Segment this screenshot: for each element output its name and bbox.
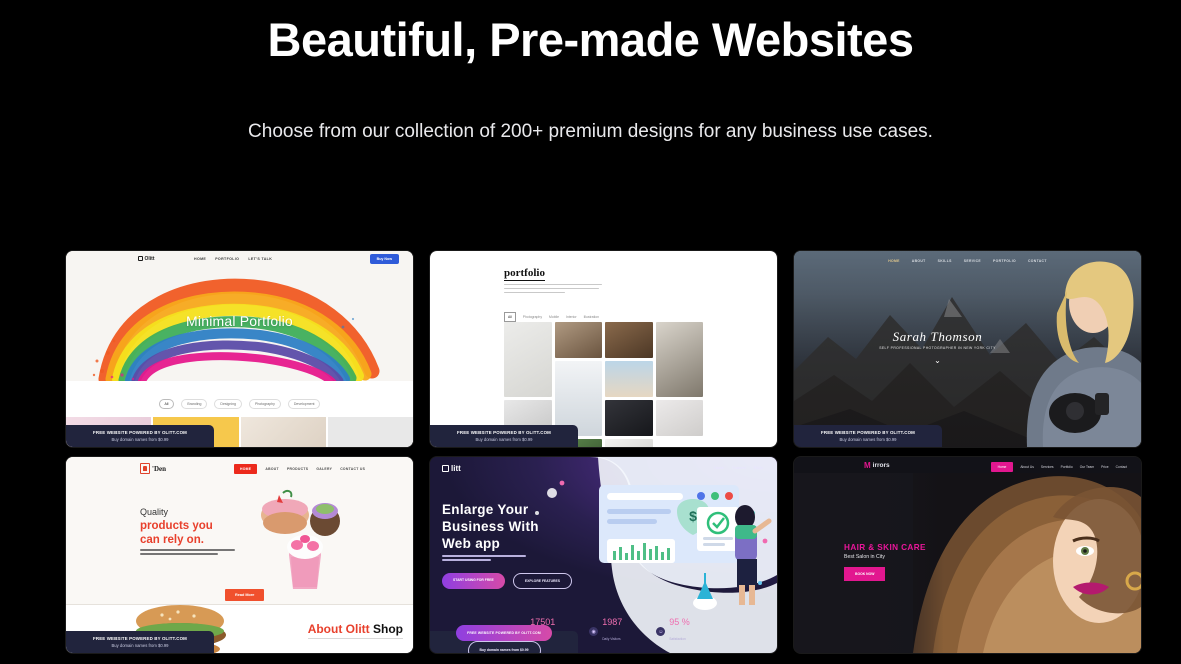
card6-nav[interactable]: Home About Us Services Portfolio Our Tea… <box>991 462 1127 472</box>
template-card-minimal-portfolio[interactable]: Olitt HOME PORTFOLIO LET'S TALK Buy Now <box>66 251 413 447</box>
card1-filter-photography[interactable]: Photography <box>249 399 281 409</box>
card3-nav[interactable]: HOME ABOUT SKILLS SERVICE PORTFOLIO CONT… <box>794 259 1141 263</box>
salon-model-photo <box>913 457 1141 653</box>
card6-nav-contact[interactable]: Contact <box>1116 465 1127 469</box>
card2-title: portfolio <box>504 267 545 281</box>
stat-label: Daily Visitors <box>602 637 620 641</box>
card1-filter-branding[interactable]: Branding <box>181 399 207 409</box>
card4-about-accent: About Olitt <box>308 622 370 636</box>
clock-icon: ◉ <box>589 627 598 636</box>
card2-filter-mobile[interactable]: Mobile <box>549 315 559 319</box>
card4-headline-line2: can rely on. <box>140 533 213 547</box>
olitt-badge[interactable]: FREE WEBSITE POWERED BY OLITT.COM Buy do… <box>430 425 578 447</box>
template-card-olitt-shop[interactable]: 'Den HOME ABOUT PRODUCTS GALERY CONTACT … <box>66 457 413 653</box>
card6-subtitle: Best Salon in City <box>844 554 885 560</box>
stat-daily-visitors: ◉ 1987 Daily Visitors <box>589 618 622 645</box>
card6-logo-mark: M <box>864 461 871 470</box>
card1-navbar: Olitt HOME PORTFOLIO LET'S TALK Buy Now <box>66 251 413 266</box>
card1-filter-designing[interactable]: Designing <box>214 399 242 409</box>
rainbow-paint-illustration <box>88 275 388 387</box>
card4-nav[interactable]: HOME ABOUT PRODUCTS GALERY CONTACT US <box>234 464 365 474</box>
card2-filter-all[interactable]: All <box>504 312 516 322</box>
card4-about-heading: About Olitt Shop <box>308 622 403 639</box>
card1-logo-text: Olitt <box>145 256 155 262</box>
olitt-badge[interactable]: FREE WEBSITE POWERED BY OLITT.COM Buy do… <box>430 631 578 653</box>
card6-nav-home[interactable]: Home <box>991 462 1014 472</box>
smile-icon: ☺ <box>656 627 665 636</box>
olitt-badge[interactable]: FREE WEBSITE POWERED BY OLITT.COM Buy do… <box>66 425 214 447</box>
gallery-item[interactable] <box>656 322 704 397</box>
badge-line-2: Buy domain names from $0.99 <box>111 642 168 649</box>
card3-headline: Sarah Thomson <box>794 329 1081 345</box>
card1-buy-now-button[interactable]: Buy Now <box>370 254 399 264</box>
stat-label: Satisfaction <box>669 637 685 641</box>
badge-line-2: Buy domain names from $0.99 <box>475 436 532 443</box>
template-grid: Olitt HOME PORTFOLIO LET'S TALK Buy Now <box>66 251 1141 653</box>
page-root: Beautiful, Pre-made Websites Choose from… <box>0 0 1181 664</box>
card6-nav-portfolio[interactable]: Portfolio <box>1061 465 1073 469</box>
card6-logo[interactable]: M irrors <box>864 461 890 470</box>
thumb-3 <box>241 417 326 447</box>
card5-cta-group[interactable]: START USING FOR FREE EXPLORE FEATURES <box>442 573 572 589</box>
card5-nav-features[interactable]: Features <box>732 466 746 470</box>
template-card-mirrors-salon[interactable]: M irrors Home About Us Services Portfoli… <box>794 457 1141 653</box>
card1-nav-lets-talk[interactable]: LET'S TALK <box>248 257 272 261</box>
card4-eyebrow: Quality <box>140 507 168 517</box>
badge-line-2: Buy domain names from $0.99 <box>839 436 896 443</box>
badge-line-1: FREE WEBSITE POWERED BY OLITT.COM <box>456 625 552 641</box>
card4-nav-products[interactable]: PRODUCTS <box>287 467 308 471</box>
card1-nav-portfolio[interactable]: PORTFOLIO <box>215 257 239 261</box>
card6-nav-price[interactable]: Price <box>1101 465 1109 469</box>
card4-logo-text: 'Den <box>152 465 166 473</box>
card4-paragraph <box>140 549 235 557</box>
stat-satisfaction: ☺ 95 % Satisfaction <box>656 618 690 645</box>
card1-filter-development[interactable]: Development <box>288 399 321 409</box>
template-card-sarah-thomson[interactable]: HOME ABOUT SKILLS SERVICE PORTFOLIO CONT… <box>794 251 1141 447</box>
card1-headline: Minimal Portfolio <box>66 313 413 329</box>
gallery-item[interactable] <box>605 322 653 358</box>
gallery-item[interactable] <box>605 400 653 436</box>
card1-nav[interactable]: HOME PORTFOLIO LET'S TALK <box>194 257 272 261</box>
card2-filter-interior[interactable]: Interior <box>566 315 577 319</box>
page-title: Beautiful, Pre-made Websites <box>0 8 1181 72</box>
card5-headline-line2: Business With <box>442 518 539 535</box>
card4-nav-about[interactable]: ABOUT <box>265 467 279 471</box>
card2-filter-photography[interactable]: Photography <box>523 315 542 319</box>
gallery-item[interactable] <box>656 400 704 436</box>
svg-text:$: $ <box>689 508 697 524</box>
card4-logo[interactable]: 'Den <box>140 463 166 474</box>
badge-line-2: Buy domain names from $0.99 <box>468 641 541 653</box>
card1-nav-home[interactable]: HOME <box>194 257 206 261</box>
card5-nav[interactable]: Home Features FAQs <box>714 466 763 470</box>
template-card-olitt-web-app[interactable]: $ <box>430 457 777 653</box>
card6-nav-our-team[interactable]: Our Team <box>1080 465 1094 469</box>
hero-section: Beautiful, Pre-made Websites Choose from… <box>0 0 1181 146</box>
card5-headline-line1: Enlarge Your <box>442 501 539 518</box>
card5-logo-text: litt <box>451 464 461 473</box>
card2-filters[interactable]: All Photography Mobile Interior Illustra… <box>504 312 599 322</box>
olitt-square-icon <box>442 465 449 472</box>
card4-about-rest: Shop <box>370 622 403 636</box>
card5-nav-faqs[interactable]: FAQs <box>754 466 763 470</box>
gallery-item[interactable] <box>605 439 653 447</box>
gallery-item[interactable] <box>605 361 653 397</box>
card5-subtitle <box>442 555 526 563</box>
card6-nav-about-us[interactable]: About Us <box>1020 465 1034 469</box>
olitt-square-icon <box>138 256 143 261</box>
template-card-portfolio[interactable]: portfolio All Photography Mobile Interio… <box>430 251 777 447</box>
card3-tagline: SELF PROFESSIONAL PHOTOGRAPHER IN NEW YO… <box>794 346 1081 350</box>
card1-filter-pills[interactable]: All Branding Designing Photography Devel… <box>66 399 413 409</box>
olitt-badge[interactable]: FREE WEBSITE POWERED BY OLITT.COM Buy do… <box>66 631 214 653</box>
card5-nav-home[interactable]: Home <box>714 466 724 470</box>
card4-headline: products you can rely on. <box>140 519 213 547</box>
card3-nav-service[interactable]: SERVICE <box>964 259 981 263</box>
stat-value: 1987 <box>602 618 622 627</box>
card4-nav-contact-us[interactable]: CONTACT US <box>340 467 365 471</box>
card4-nav-home[interactable]: HOME <box>234 464 257 474</box>
card3-nav-portfolio[interactable]: PORTFOLIO <box>993 259 1016 263</box>
thumb-4 <box>328 417 413 447</box>
card1-logo[interactable]: Olitt <box>138 256 155 262</box>
cupcakes-illustration <box>251 485 351 597</box>
page-subtitle: Choose from our collection of 200+ premi… <box>0 118 1181 146</box>
badge-line-2: Buy domain names from $0.99 <box>111 436 168 443</box>
stat-value: 95 % <box>669 618 690 627</box>
card5-logo[interactable]: litt <box>442 464 461 473</box>
card1-filter-all[interactable]: All <box>159 399 175 409</box>
card5-headline: Enlarge Your Business With Web app <box>442 501 539 552</box>
card5-headline-line3: Web app <box>442 535 539 552</box>
card3-nav-home[interactable]: HOME <box>888 259 900 263</box>
chevron-down-icon[interactable]: ⌄ <box>794 357 1081 365</box>
card3-nav-about[interactable]: ABOUT <box>912 259 926 263</box>
card2-filter-illustration[interactable]: Illustration <box>584 315 599 319</box>
card3-nav-contact[interactable]: CONTACT <box>1028 259 1047 263</box>
card6-cta-button[interactable]: BOOK NOW <box>844 567 885 581</box>
gallery-item[interactable] <box>504 322 552 397</box>
card2-paragraph <box>504 284 602 296</box>
card5-secondary-button[interactable]: EXPLORE FEATURES <box>513 573 572 589</box>
cake-icon <box>140 463 150 474</box>
card6-nav-services[interactable]: Services <box>1041 465 1054 469</box>
card3-nav-skills[interactable]: SKILLS <box>938 259 952 263</box>
card5-primary-button[interactable]: START USING FOR FREE <box>442 573 505 589</box>
card6-logo-text: irrors <box>873 462 890 469</box>
gallery-item[interactable] <box>555 322 603 358</box>
card1-divider <box>66 381 413 393</box>
olitt-badge[interactable]: FREE WEBSITE POWERED BY OLITT.COM Buy do… <box>794 425 942 447</box>
card4-headline-line1: products you <box>140 519 213 533</box>
card4-nav-galery[interactable]: GALERY <box>316 467 332 471</box>
card6-headline: HAIR & SKIN CARE <box>844 543 926 552</box>
web-app-illustration: $ <box>585 481 775 611</box>
